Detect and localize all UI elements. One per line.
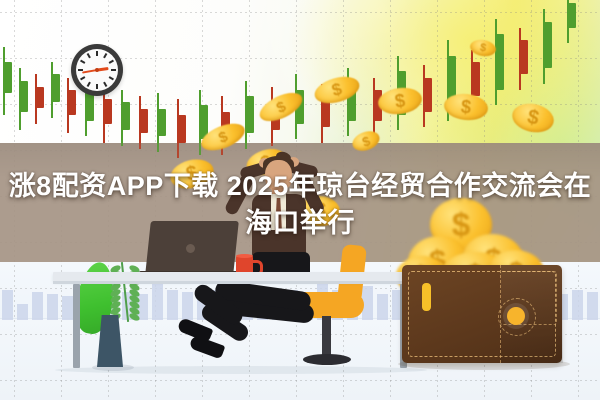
desk-edge [53, 281, 428, 284]
banner-image: $$$$$$$$$$$ $$$$$$ [0, 0, 600, 400]
wallet-card-tab [422, 283, 431, 311]
mug-rim [236, 254, 253, 258]
desk-surface [53, 272, 428, 281]
desk-leg-left [73, 284, 80, 368]
wallet-clasp-button [507, 307, 525, 325]
leather-wallet [402, 265, 562, 363]
chair-base [303, 354, 351, 365]
banner-title: 涨8配资APP下载 2025年琼台经贸合作交流会在 海口举行 [0, 168, 600, 242]
desk-shadow [55, 366, 427, 374]
laptop-logo [186, 244, 195, 253]
